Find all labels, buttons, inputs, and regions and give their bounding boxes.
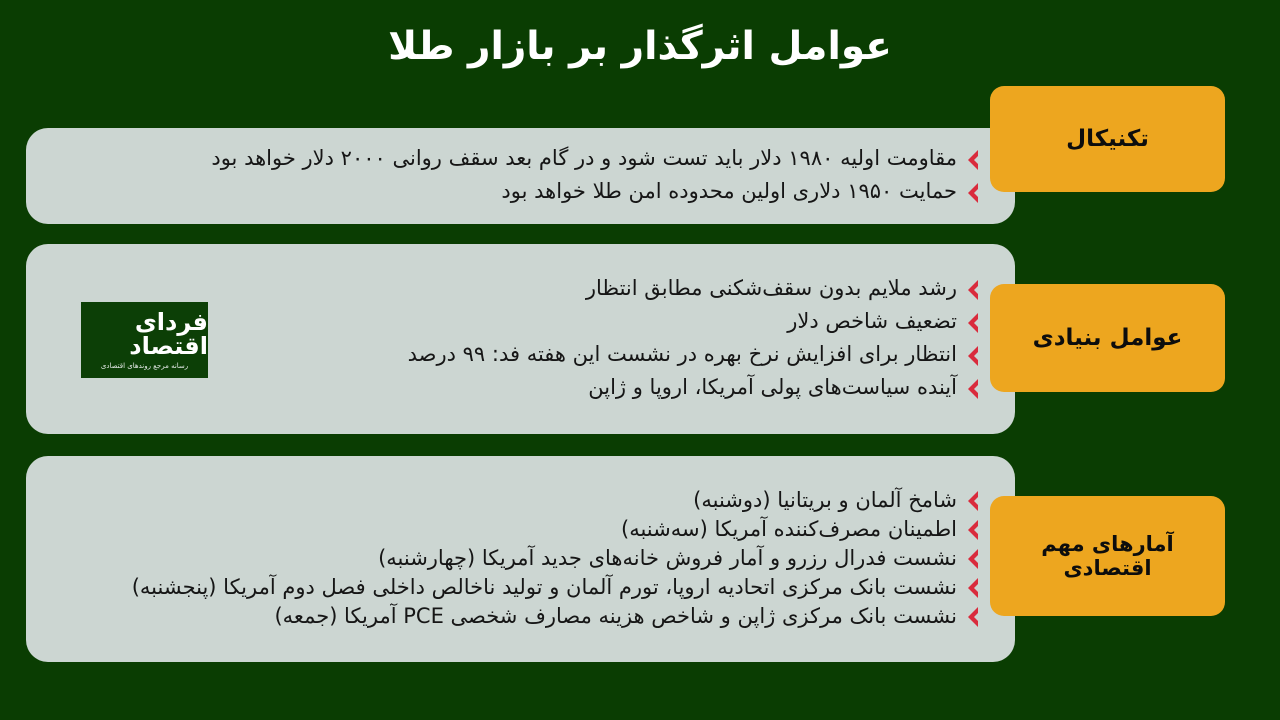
page-title: عوامل اثرگذار بر بازار طلا [0,22,1280,73]
logo-tagline: رسانه مرجع روندهای اقتصادی [101,363,188,370]
chevron-left-icon [965,279,981,301]
list-item: آینده سیاست‌های پولی آمریکا، اروپا و ژاپ… [52,377,981,400]
chevron-left-icon [965,149,981,171]
list-item: نشست بانک مرکزی اتحادیه اروپا، تورم آلما… [52,577,981,600]
slide-root: عوامل اثرگذار بر بازار طلا مقاومت اولیه … [0,0,1280,720]
badge-label: عوامل بنیادی [1033,325,1183,351]
list-item-label: نشست بانک مرکزی اتحادیه اروپا، تورم آلما… [132,577,957,600]
list-item-label: اطمینان مصرف‌کننده آمریکا (سه‌شنبه) [621,519,957,542]
list-item-label: آینده سیاست‌های پولی آمریکا، اروپا و ژاپ… [588,377,957,400]
list-item-label: تضعیف شاخص دلار [787,311,957,334]
chevron-left-icon [965,490,981,512]
list-item: نشست فدرال رزرو و آمار فروش خانه‌های جدی… [52,548,981,571]
badge-label: تکنیکال [1066,126,1149,152]
chevron-left-icon [965,606,981,628]
list-item: مقاومت اولیه ۱۹۸۰ دلار باید تست شود و در… [52,148,981,171]
chevron-left-icon [965,345,981,367]
chevron-left-icon [965,312,981,334]
chevron-left-icon [965,182,981,204]
list-item: رشد ملایم بدون سقف‌شکنی مطابق انتظار [52,278,981,301]
card-economic-stats: شامخ آلمان و بریتانیا (دوشنبه) اطمینان م… [26,456,1015,662]
list-item: شامخ آلمان و بریتانیا (دوشنبه) [52,490,981,513]
list-item-label: نشست فدرال رزرو و آمار فروش خانه‌های جدی… [378,548,957,571]
chevron-left-icon [965,519,981,541]
card-technical: مقاومت اولیه ۱۹۸۰ دلار باید تست شود و در… [26,128,1015,224]
badge-technical: تکنیکال [990,86,1225,192]
list-item-label: رشد ملایم بدون سقف‌شکنی مطابق انتظار [586,278,957,301]
list-item-label: شامخ آلمان و بریتانیا (دوشنبه) [693,490,957,513]
chevron-left-icon [965,577,981,599]
list-item-label: انتظار برای افزایش نرخ بهره در نشست این … [408,344,957,367]
list-item-label: نشست بانک مرکزی ژاپن و شاخص هزینه مصارف … [274,606,957,629]
logo-wordmark: فردای اقتصاد [81,310,208,358]
list-item-label: مقاومت اولیه ۱۹۸۰ دلار باید تست شود و در… [211,148,957,171]
badge-label: آمارهای مهم اقتصادی [1000,532,1215,580]
chevron-left-icon [965,378,981,400]
badge-economic-stats: آمارهای مهم اقتصادی [990,496,1225,616]
list-item: اطمینان مصرف‌کننده آمریکا (سه‌شنبه) [52,519,981,542]
list-item: نشست بانک مرکزی ژاپن و شاخص هزینه مصارف … [52,606,981,629]
chevron-left-icon [965,548,981,570]
list-item: حمایت ۱۹۵۰ دلاری اولین محدوده امن طلا خو… [52,181,981,204]
list-item-label: حمایت ۱۹۵۰ دلاری اولین محدوده امن طلا خو… [501,181,957,204]
logo: فردای اقتصاد رسانه مرجع روندهای اقتصادی [79,300,210,380]
badge-fundamental: عوامل بنیادی [990,284,1225,392]
